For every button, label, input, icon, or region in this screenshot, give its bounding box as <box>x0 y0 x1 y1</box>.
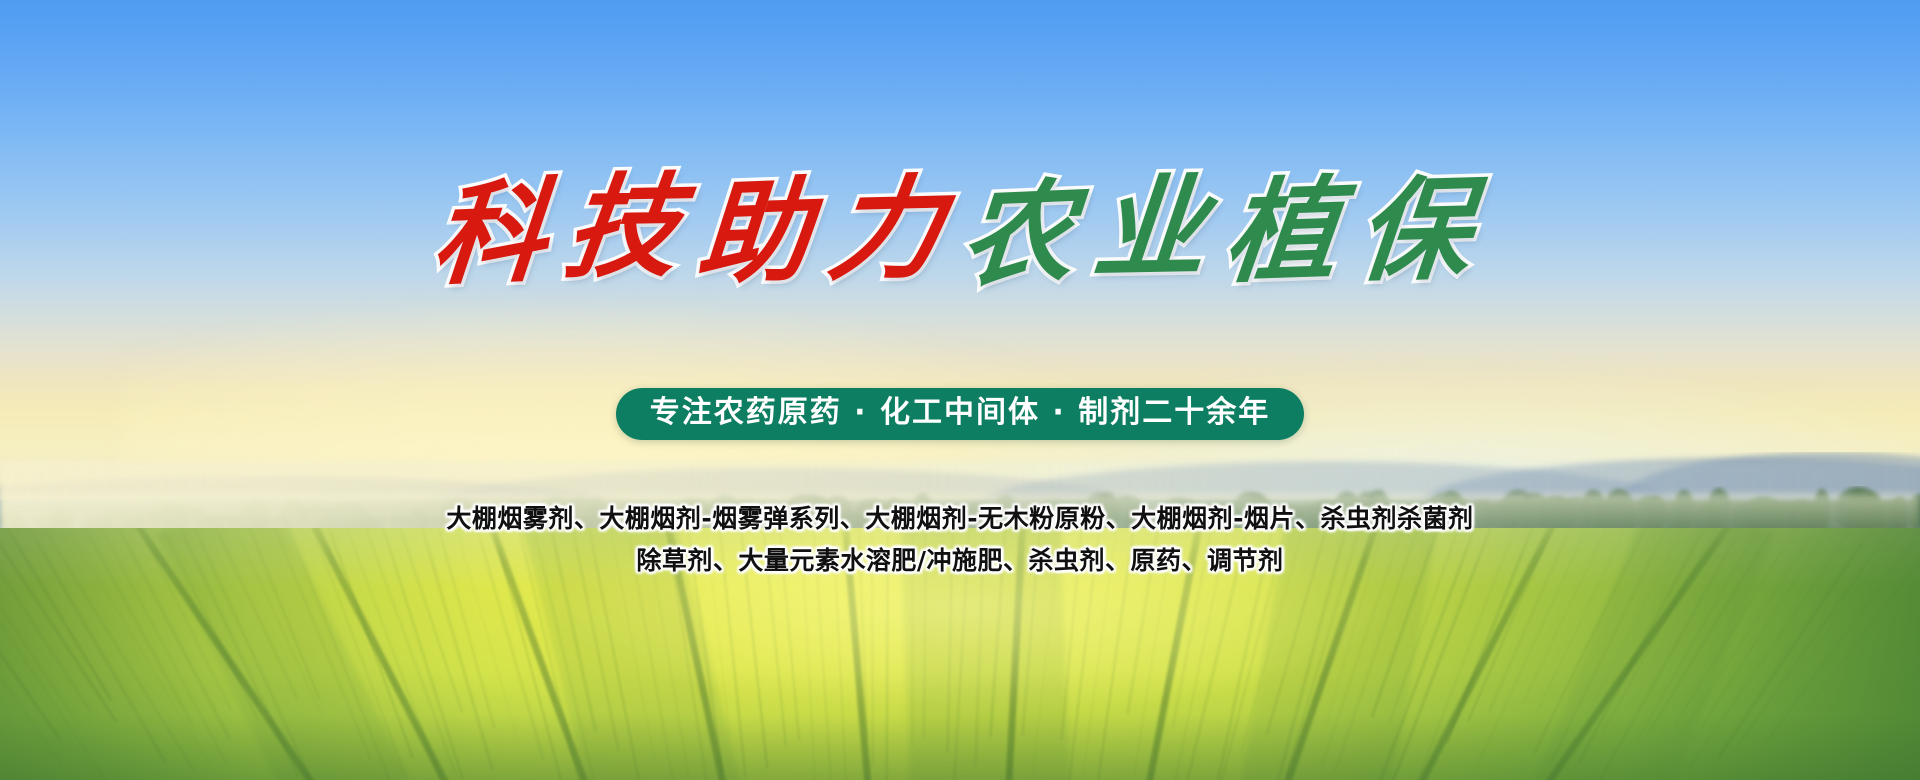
headline-char-4: 力 <box>821 172 968 287</box>
product-line-2: 除草剂、大量元素水溶肥/冲施肥、杀虫剂、原药、调节剂 <box>0 540 1920 582</box>
hero-banner: 科技助力农业植保 专注农药原药 · 化工中间体 · 制剂二十余年 大棚烟雾剂、大… <box>0 0 1920 780</box>
headline-char-8: 保 <box>1351 173 1494 289</box>
headline-char-2: 技 <box>557 171 703 285</box>
field-shadow-bottom <box>0 670 1920 780</box>
headline-char-3: 助 <box>692 175 832 292</box>
banner-headline: 科技助力农业植保 <box>0 176 1920 288</box>
product-list: 大棚烟雾剂、大棚烟剂-烟雾弹系列、大棚烟剂-无木粉原粉、大棚烟剂-烟片、杀虫剂杀… <box>0 498 1920 582</box>
headline-char-6: 业 <box>1087 172 1229 286</box>
badge-row: 专注农药原药 · 化工中间体 · 制剂二十余年 <box>0 388 1920 440</box>
tagline-badge: 专注农药原药 · 化工中间体 · 制剂二十余年 <box>616 388 1305 440</box>
headline-char-1: 科 <box>427 176 569 293</box>
headline-char-5: 农 <box>955 176 1097 293</box>
product-line-1: 大棚烟雾剂、大棚烟剂-烟雾弹系列、大棚烟剂-无木粉原粉、大棚烟剂-烟片、杀虫剂杀… <box>0 498 1920 540</box>
headline-char-7: 植 <box>1218 174 1362 291</box>
